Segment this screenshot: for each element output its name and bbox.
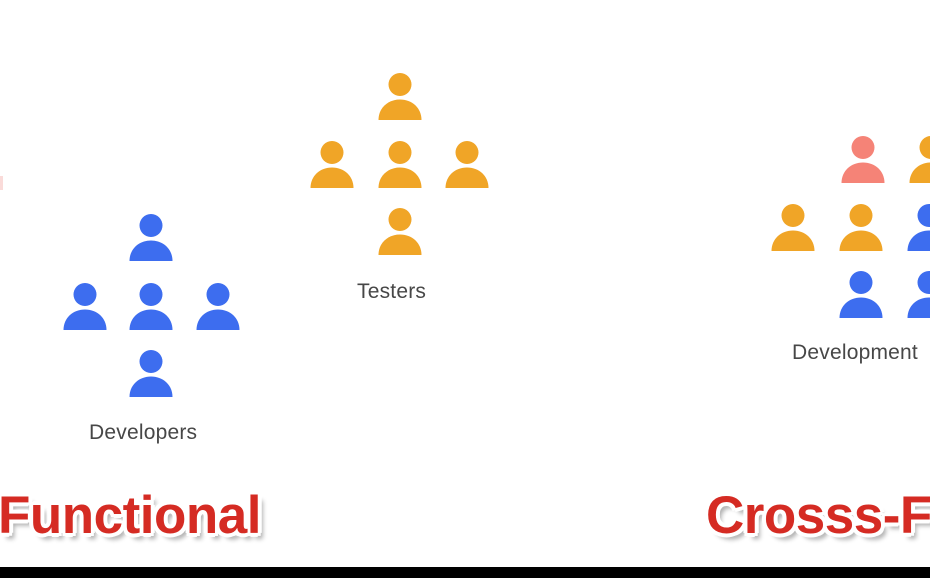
person-icon [123, 209, 179, 265]
bottom-black-bar [0, 567, 930, 578]
person-icon [833, 199, 889, 255]
group-label-development-team: Development [792, 341, 918, 365]
group-label-developers: Developers [89, 421, 197, 445]
person-icon [123, 278, 179, 334]
caption-cross-functional: Crosss-Fu [706, 485, 930, 546]
person-icon [123, 345, 179, 401]
group-label-testers: Testers [357, 280, 426, 304]
slide-canvas: DevelopersTestersDevelopment FunctionalC… [0, 0, 930, 578]
person-icon [901, 199, 930, 255]
person-icon [372, 68, 428, 124]
person-icon [833, 266, 889, 322]
person-icon [372, 136, 428, 192]
person-icon [190, 278, 246, 334]
person-icon [304, 136, 360, 192]
person-icon [901, 266, 930, 322]
person-icon [439, 136, 495, 192]
person-icon [765, 199, 821, 255]
person-icon [903, 131, 930, 187]
person-icon [57, 278, 113, 334]
person-icon [835, 131, 891, 187]
person-icon [372, 203, 428, 259]
caption-functional: Functional [0, 485, 261, 546]
left-edge-sliver [0, 176, 3, 190]
